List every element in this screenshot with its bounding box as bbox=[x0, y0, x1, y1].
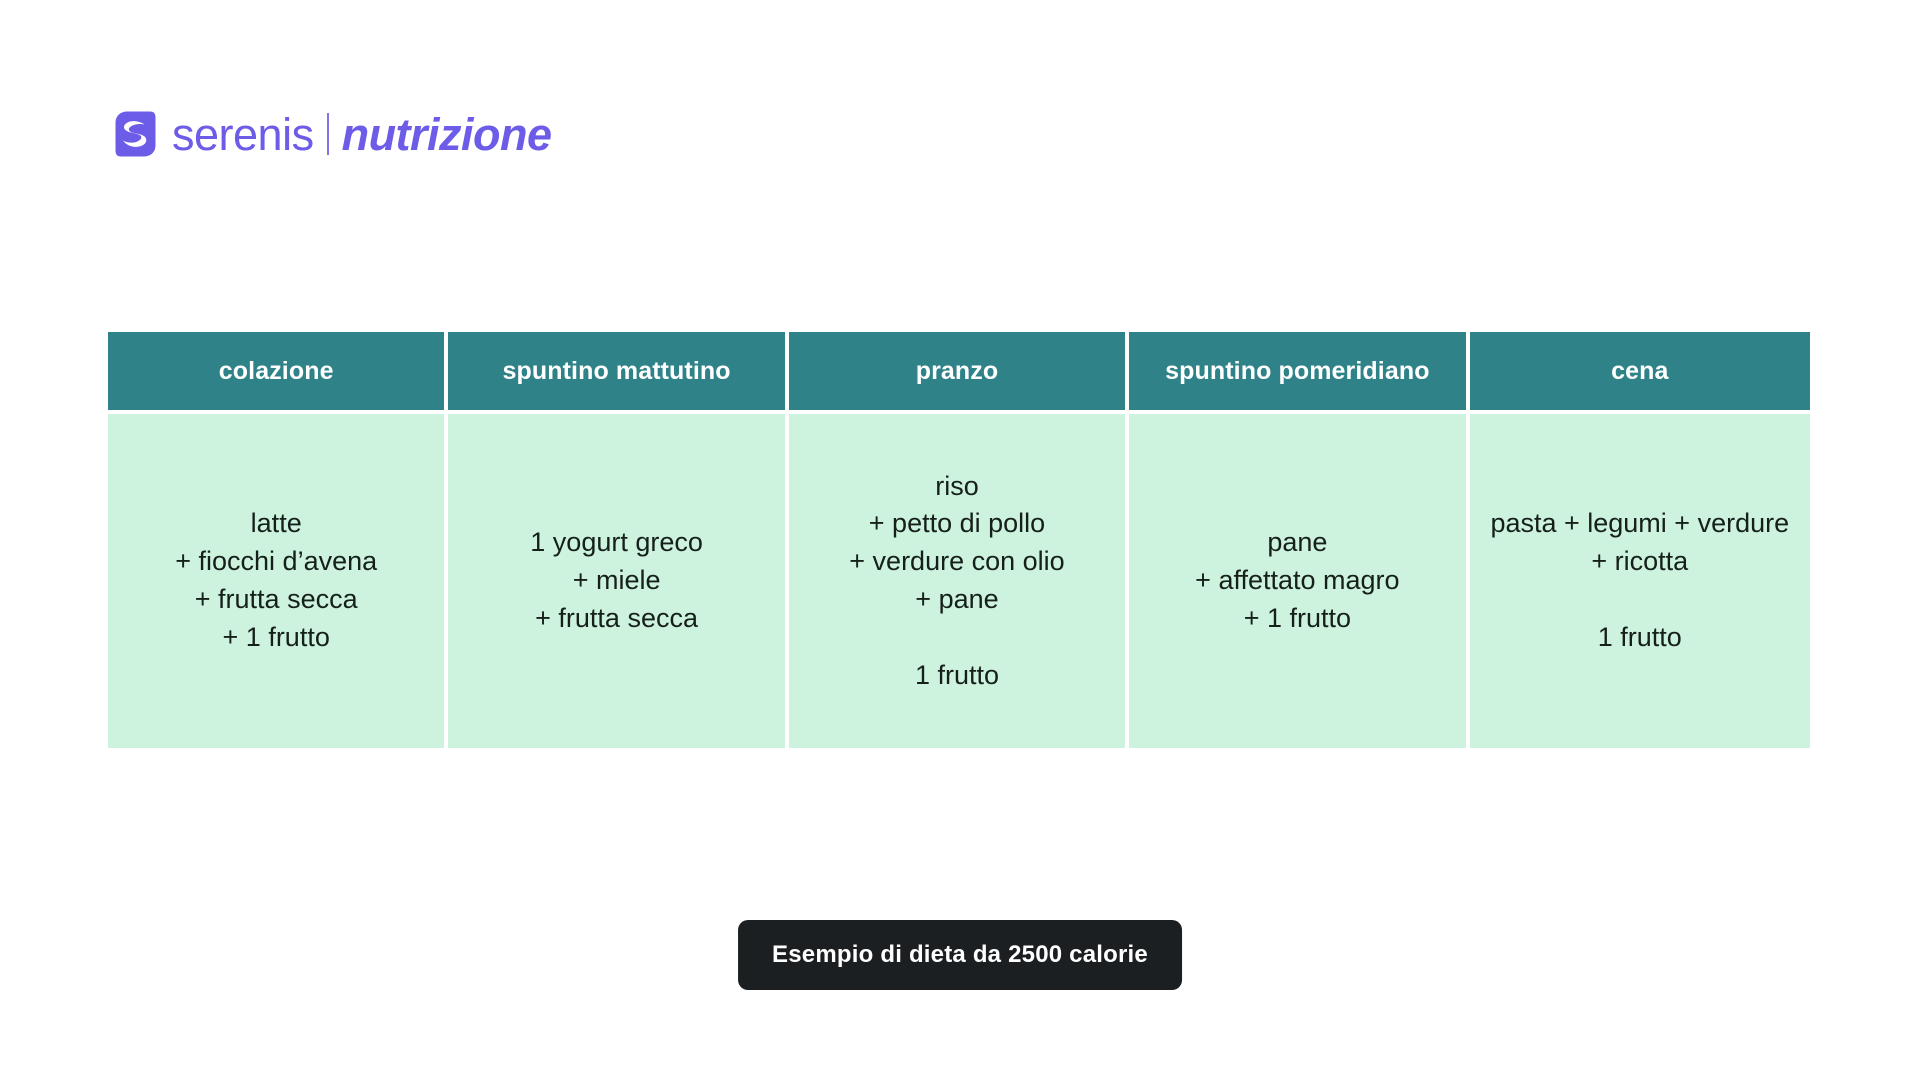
column-header-spuntino-mattutino: spuntino mattutino bbox=[448, 332, 788, 410]
table-header-row: colazione spuntino mattutino pranzo spun… bbox=[108, 332, 1810, 410]
cell-spuntino-mattutino: 1 yogurt greco + miele + frutta secca bbox=[448, 410, 788, 748]
column-header-spuntino-pomeridiano: spuntino pomeridiano bbox=[1129, 332, 1469, 410]
nutrition-diet-infographic: { "brand": { "mark_icon": "serenis-s-log… bbox=[0, 0, 1920, 1080]
brand-separator bbox=[327, 113, 329, 155]
column-header-pranzo: pranzo bbox=[789, 332, 1129, 410]
cell-spuntino-pomeridiano: pane + affettato magro + 1 frutto bbox=[1129, 410, 1469, 748]
table-row: latte + fiocchi d’avena + frutta secca +… bbox=[108, 410, 1810, 748]
diet-plan-table: colazione spuntino mattutino pranzo spun… bbox=[108, 332, 1810, 748]
column-header-cena: cena bbox=[1470, 332, 1810, 410]
serenis-s-logo-icon bbox=[108, 109, 158, 159]
table-body: latte + fiocchi d’avena + frutta secca +… bbox=[108, 410, 1810, 748]
brand-subbrand: nutrizione bbox=[342, 112, 552, 157]
cell-pranzo: riso + petto di pollo + verdure con olio… bbox=[789, 410, 1129, 748]
caption-badge: Esempio di dieta da 2500 calorie bbox=[738, 920, 1182, 990]
cell-cena: pasta + legumi + verdure + ricotta 1 fru… bbox=[1470, 410, 1810, 748]
brand-wordmark: serenis nutrizione bbox=[172, 112, 552, 157]
table-header: colazione spuntino mattutino pranzo spun… bbox=[108, 332, 1810, 410]
brand-name: serenis bbox=[172, 112, 314, 157]
column-header-colazione: colazione bbox=[108, 332, 448, 410]
cell-colazione: latte + fiocchi d’avena + frutta secca +… bbox=[108, 410, 448, 748]
brand-logo: serenis nutrizione bbox=[108, 102, 552, 166]
